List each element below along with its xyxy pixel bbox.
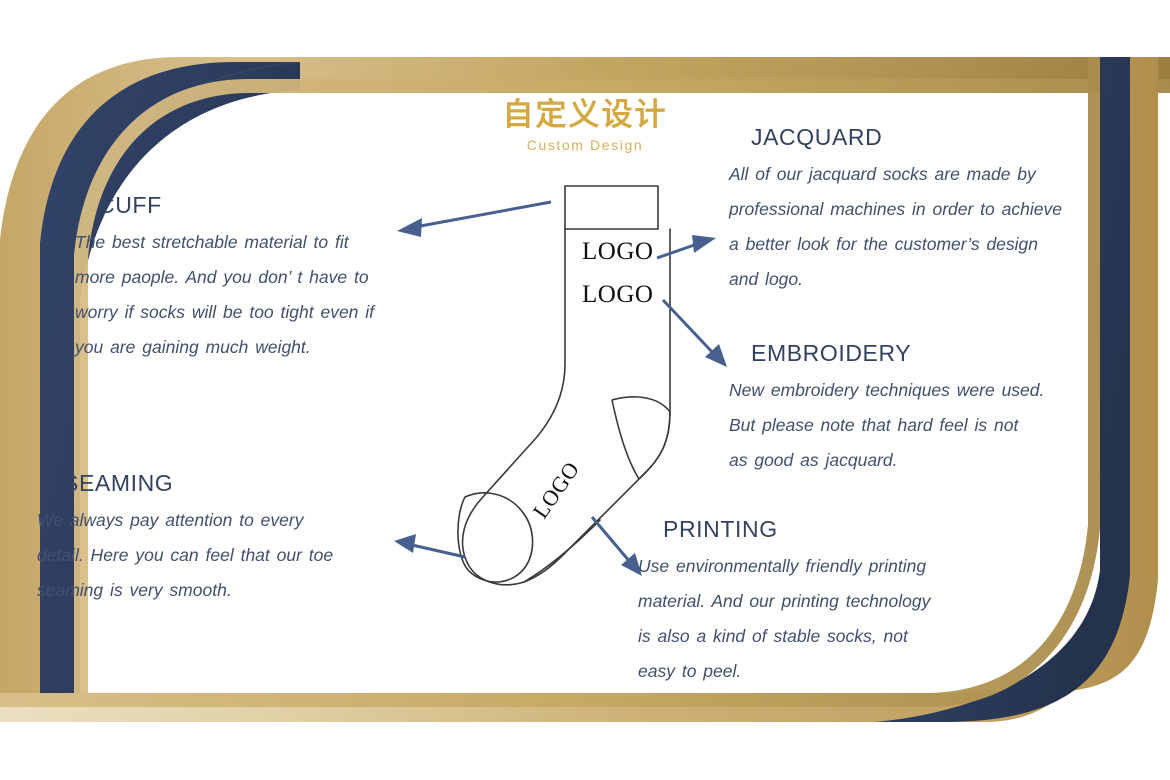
section-printing-line-2: material. And our printing technology bbox=[638, 584, 998, 619]
section-cuff-body: The best stretchable material to fit mor… bbox=[75, 225, 445, 365]
section-printing-line-4: easy to peel. bbox=[638, 654, 998, 689]
section-jacquard-line-3: a better look for the customer’s design bbox=[729, 227, 1104, 262]
section-jacquard: JACQUARD All of our jacquard socks are m… bbox=[729, 124, 1104, 297]
section-jacquard-heading: JACQUARD bbox=[729, 124, 1104, 151]
sock-logo-mid: LOGO bbox=[582, 281, 653, 308]
section-cuff: CUFF The best stretchable material to fi… bbox=[75, 192, 445, 365]
section-seaming-line-3: seaming is very smooth. bbox=[37, 573, 402, 608]
section-cuff-line-2: more paople. And you don’ t have to bbox=[75, 260, 445, 295]
section-cuff-heading: CUFF bbox=[75, 192, 445, 219]
page-title-cn: 自定义设计 bbox=[460, 98, 710, 132]
section-seaming-heading: SEAMING bbox=[37, 470, 402, 497]
section-embroidery: EMBROIDERY New embroidery techniques wer… bbox=[729, 340, 1099, 478]
frame-top-margin bbox=[0, 0, 1170, 57]
section-jacquard-line-4: and logo. bbox=[729, 262, 1104, 297]
section-jacquard-line-1: All of our jacquard socks are made by bbox=[729, 157, 1104, 192]
section-printing-heading: PRINTING bbox=[638, 516, 998, 543]
section-cuff-line-4: you are gaining much weight. bbox=[75, 330, 445, 365]
section-seaming-line-1: We always pay attention to every bbox=[37, 503, 402, 538]
section-jacquard-line-2: professional machines in order to achiev… bbox=[729, 192, 1104, 227]
section-cuff-line-3: worry if socks will be too tight even if bbox=[75, 295, 445, 330]
section-cuff-line-1: The best stretchable material to fit bbox=[75, 225, 445, 260]
frame-bottom-margin bbox=[0, 722, 1170, 780]
section-embroidery-body: New embroidery techniques were used. But… bbox=[729, 373, 1099, 478]
section-printing-body: Use environmentally friendly printing ma… bbox=[638, 549, 998, 689]
section-embroidery-line-3: as good as jacquard. bbox=[729, 443, 1099, 478]
section-seaming-body: We always pay attention to every detail.… bbox=[37, 503, 402, 608]
section-embroidery-heading: EMBROIDERY bbox=[729, 340, 1099, 367]
sock-logo-top: LOGO bbox=[582, 238, 653, 265]
section-embroidery-line-1: New embroidery techniques were used. bbox=[729, 373, 1099, 408]
section-seaming-line-2: detail. Here you can feel that our toe bbox=[37, 538, 402, 573]
sock-toe-outline bbox=[458, 493, 533, 582]
section-printing-line-1: Use environmentally friendly printing bbox=[638, 549, 998, 584]
frame-navy-curve bbox=[40, 62, 300, 780]
page-title-en: Custom Design bbox=[460, 137, 710, 153]
page-title-block: 自定义设计 Custom Design bbox=[460, 98, 710, 153]
sock-cuff-outline bbox=[565, 186, 658, 229]
section-printing: PRINTING Use environmentally friendly pr… bbox=[638, 516, 998, 689]
section-embroidery-line-2: But please note that hard feel is not bbox=[729, 408, 1099, 443]
section-printing-line-3: is also a kind of stable socks, not bbox=[638, 619, 998, 654]
sock-heel-outline bbox=[612, 397, 670, 479]
custom-design-infographic: 自定义设计 Custom Design LOGO LOGO LOGO bbox=[0, 0, 1170, 780]
section-jacquard-body: All of our jacquard socks are made by pr… bbox=[729, 157, 1104, 297]
sock-logo-foot: LOGO bbox=[528, 457, 585, 523]
section-seaming: SEAMING We always pay attention to every… bbox=[37, 470, 402, 608]
frame-corner-tr-margin bbox=[1158, 0, 1170, 57]
